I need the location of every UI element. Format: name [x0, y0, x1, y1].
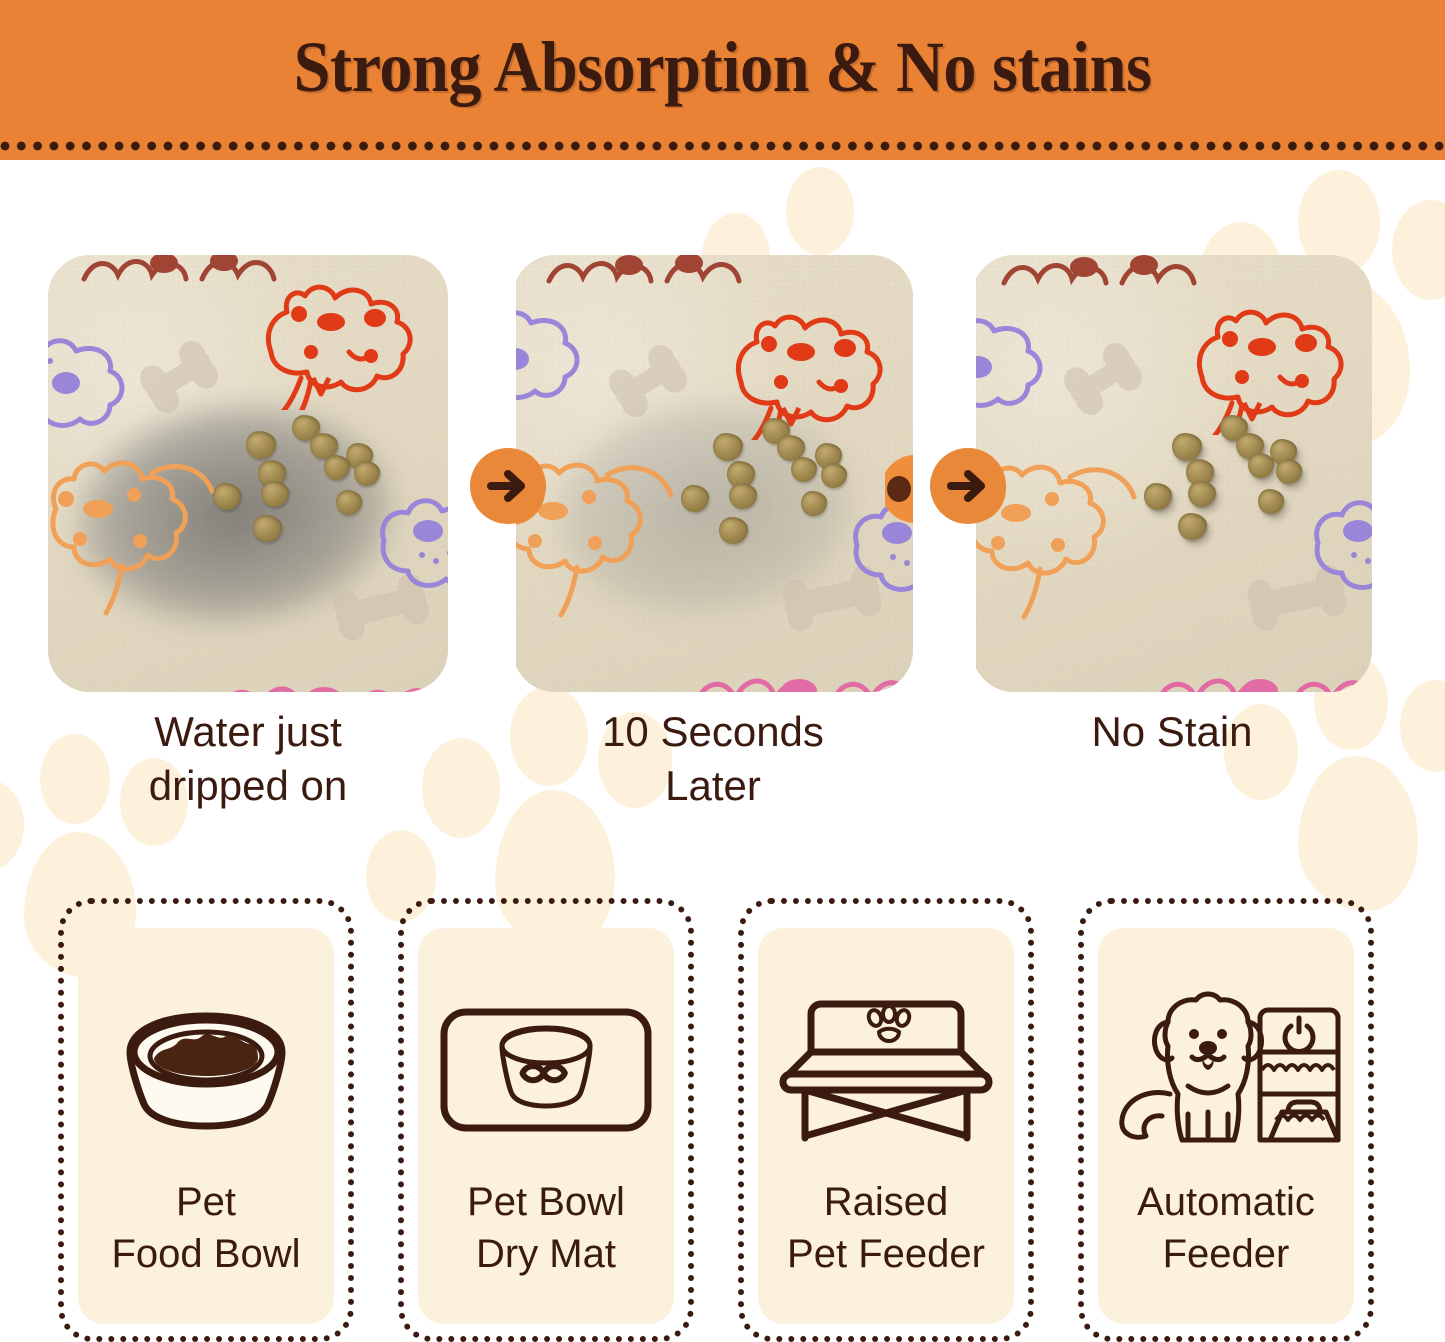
arrow-right-glyph: [945, 463, 991, 509]
dog-doodle-purple: [1304, 485, 1372, 605]
demo-photo-no-stain: [972, 255, 1372, 692]
dog-doodle-purple: [513, 295, 599, 415]
pet-food-bowl-icon: [106, 986, 306, 1154]
card-label-raised-pet-feeder: Raised Pet Feeder: [787, 1176, 985, 1280]
card-inner: Pet Bowl Dry Mat: [418, 928, 674, 1324]
dog-doodle-darkred: [543, 255, 763, 299]
use-case-cards: Pet Food Bowl Pet Bowl Dry Mat: [0, 898, 1445, 1342]
dog-doodle-purple: [48, 323, 144, 443]
dog-doodle-purple: [972, 303, 1062, 423]
absorption-demo-row: [0, 255, 1445, 695]
dog-doodle-darkred: [998, 255, 1218, 301]
demo-photo-ten-seconds-later: [513, 255, 913, 692]
dog-doodle-pink: [218, 651, 448, 692]
dog-doodle-orange: [48, 443, 266, 618]
card-inner: Pet Food Bowl: [78, 928, 334, 1324]
dog-doodle-red: [723, 290, 913, 440]
dog-doodle-purple: [370, 483, 448, 603]
card-pet-food-bowl[interactable]: Pet Food Bowl: [58, 898, 354, 1342]
card-automatic-feeder[interactable]: Automatic Feeder: [1078, 898, 1374, 1342]
card-label-automatic-feeder: Automatic Feeder: [1137, 1176, 1315, 1280]
caption-ten-seconds-later: 10 Seconds Later: [513, 705, 913, 813]
dog-doodle-darkred: [78, 255, 298, 297]
arrow-right-glyph: [485, 463, 531, 509]
header-banner: Strong Absorption & No stains: [0, 0, 1445, 160]
dog-doodle-red: [1184, 285, 1372, 435]
header-dotted-divider: [0, 141, 1445, 155]
raised-pet-feeder-icon: [775, 986, 997, 1154]
dog-doodle-pink: [693, 643, 913, 692]
dog-doodle-orange-right: [885, 445, 913, 535]
card-inner: Automatic Feeder: [1098, 928, 1354, 1324]
card-label-pet-food-bowl: Pet Food Bowl: [112, 1176, 301, 1280]
arrow-right-icon: [470, 448, 546, 524]
card-label-pet-bowl-dry-mat: Pet Bowl Dry Mat: [467, 1176, 625, 1280]
demo-photo-water-dripped: [48, 255, 448, 692]
automatic-feeder-icon: [1110, 986, 1342, 1154]
card-raised-pet-feeder[interactable]: Raised Pet Feeder: [738, 898, 1034, 1342]
page-title: Strong Absorption & No stains: [58, 26, 1387, 109]
card-pet-bowl-dry-mat[interactable]: Pet Bowl Dry Mat: [398, 898, 694, 1342]
caption-no-stain: No Stain: [972, 705, 1372, 759]
caption-water-dripped: Water just dripped on: [48, 705, 448, 813]
card-inner: Raised Pet Feeder: [758, 928, 1014, 1324]
dog-doodle-pink: [1154, 643, 1372, 692]
arrow-right-icon: [930, 448, 1006, 524]
pet-bowl-dry-mat-icon: [436, 986, 656, 1154]
